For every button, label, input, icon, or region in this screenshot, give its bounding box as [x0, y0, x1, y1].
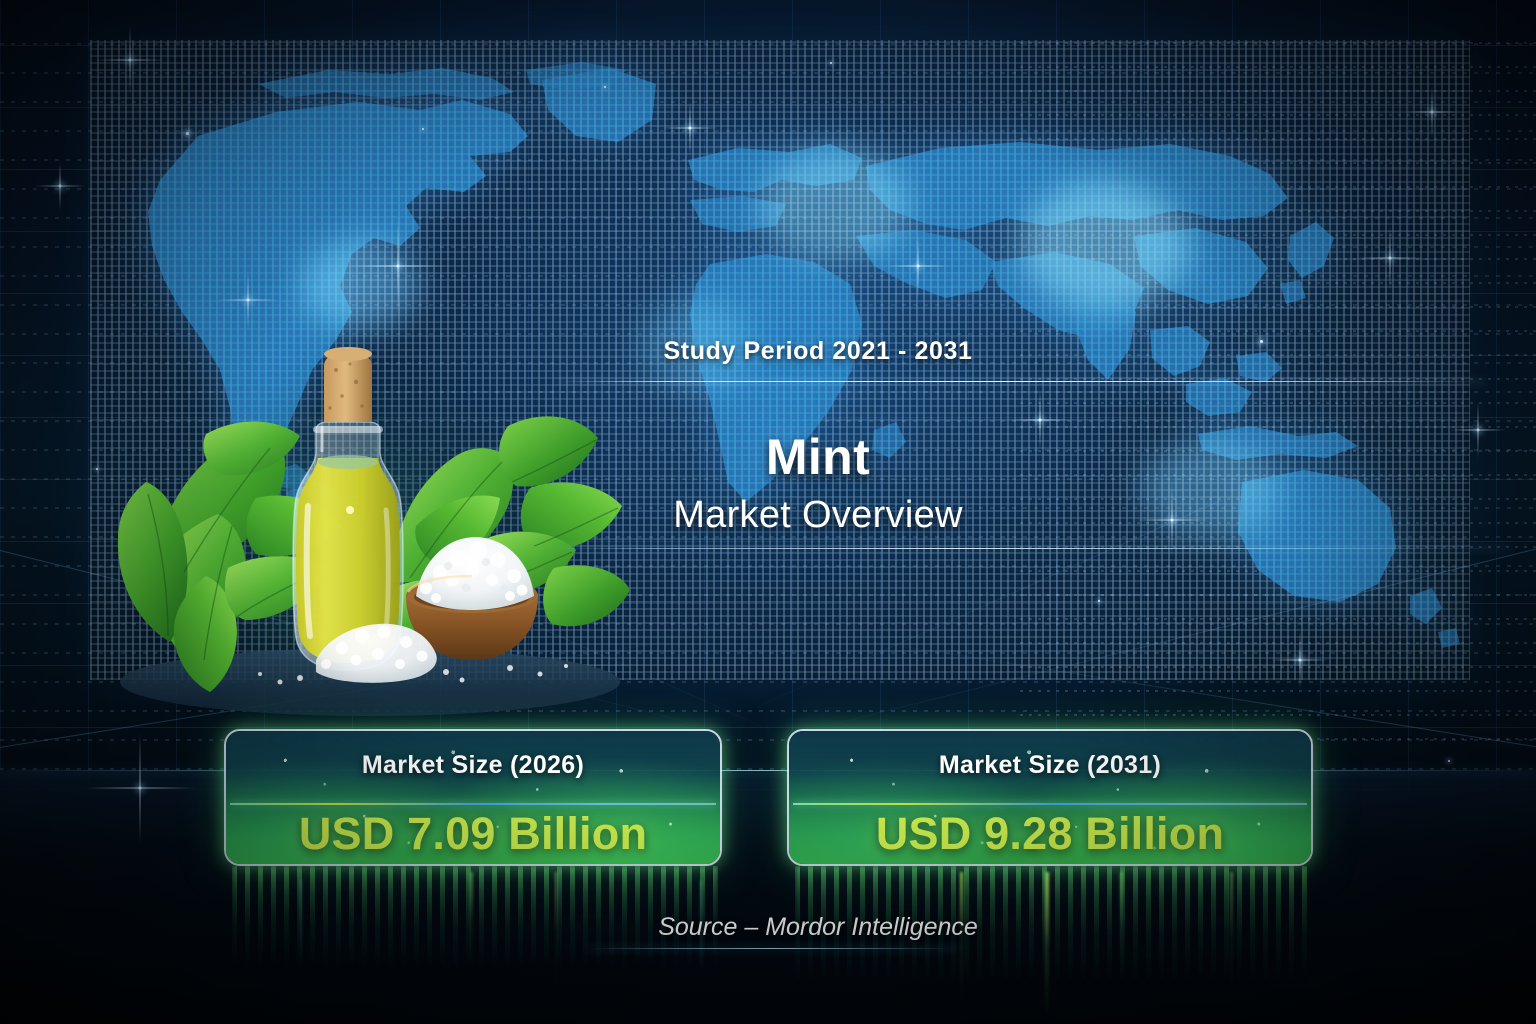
page-title: Mint — [468, 428, 1168, 486]
infographic-stage: Study Period 2021 - 2031 Mint Market Ove… — [0, 0, 1536, 1024]
stat-value: USD 7.09 Billion — [226, 808, 720, 860]
star-dot — [96, 468, 98, 470]
stat-label: Market Size (2031) — [789, 751, 1311, 780]
card-divider-line — [230, 803, 716, 805]
map-glow-spot — [1020, 180, 1190, 310]
source-attribution: Source – Mordor Intelligence — [468, 913, 1168, 942]
divider-source — [586, 948, 958, 949]
page-subtitle: Market Overview — [468, 494, 1168, 537]
divider-middle — [560, 548, 1510, 549]
stat-card-market-size-2026[interactable]: Market Size (2026) USD 7.09 Billion — [224, 729, 722, 866]
stat-card-market-size-2031[interactable]: Market Size (2031) USD 9.28 Billion — [787, 729, 1313, 866]
map-glow-spot — [300, 240, 420, 330]
star-dot — [604, 86, 606, 88]
card-divider-line — [793, 803, 1307, 805]
divider-top — [556, 381, 1486, 382]
star-dot — [1260, 340, 1263, 343]
star-dot — [1448, 760, 1450, 762]
stat-value: USD 9.28 Billion — [789, 808, 1311, 860]
star-dot — [830, 62, 832, 64]
star-dot — [1098, 600, 1100, 602]
star-dot — [186, 132, 189, 135]
stat-label: Market Size (2026) — [226, 751, 720, 780]
study-period-label: Study Period 2021 - 2031 — [468, 337, 1168, 366]
star-dot — [422, 128, 424, 130]
map-glow-spot — [760, 150, 910, 260]
